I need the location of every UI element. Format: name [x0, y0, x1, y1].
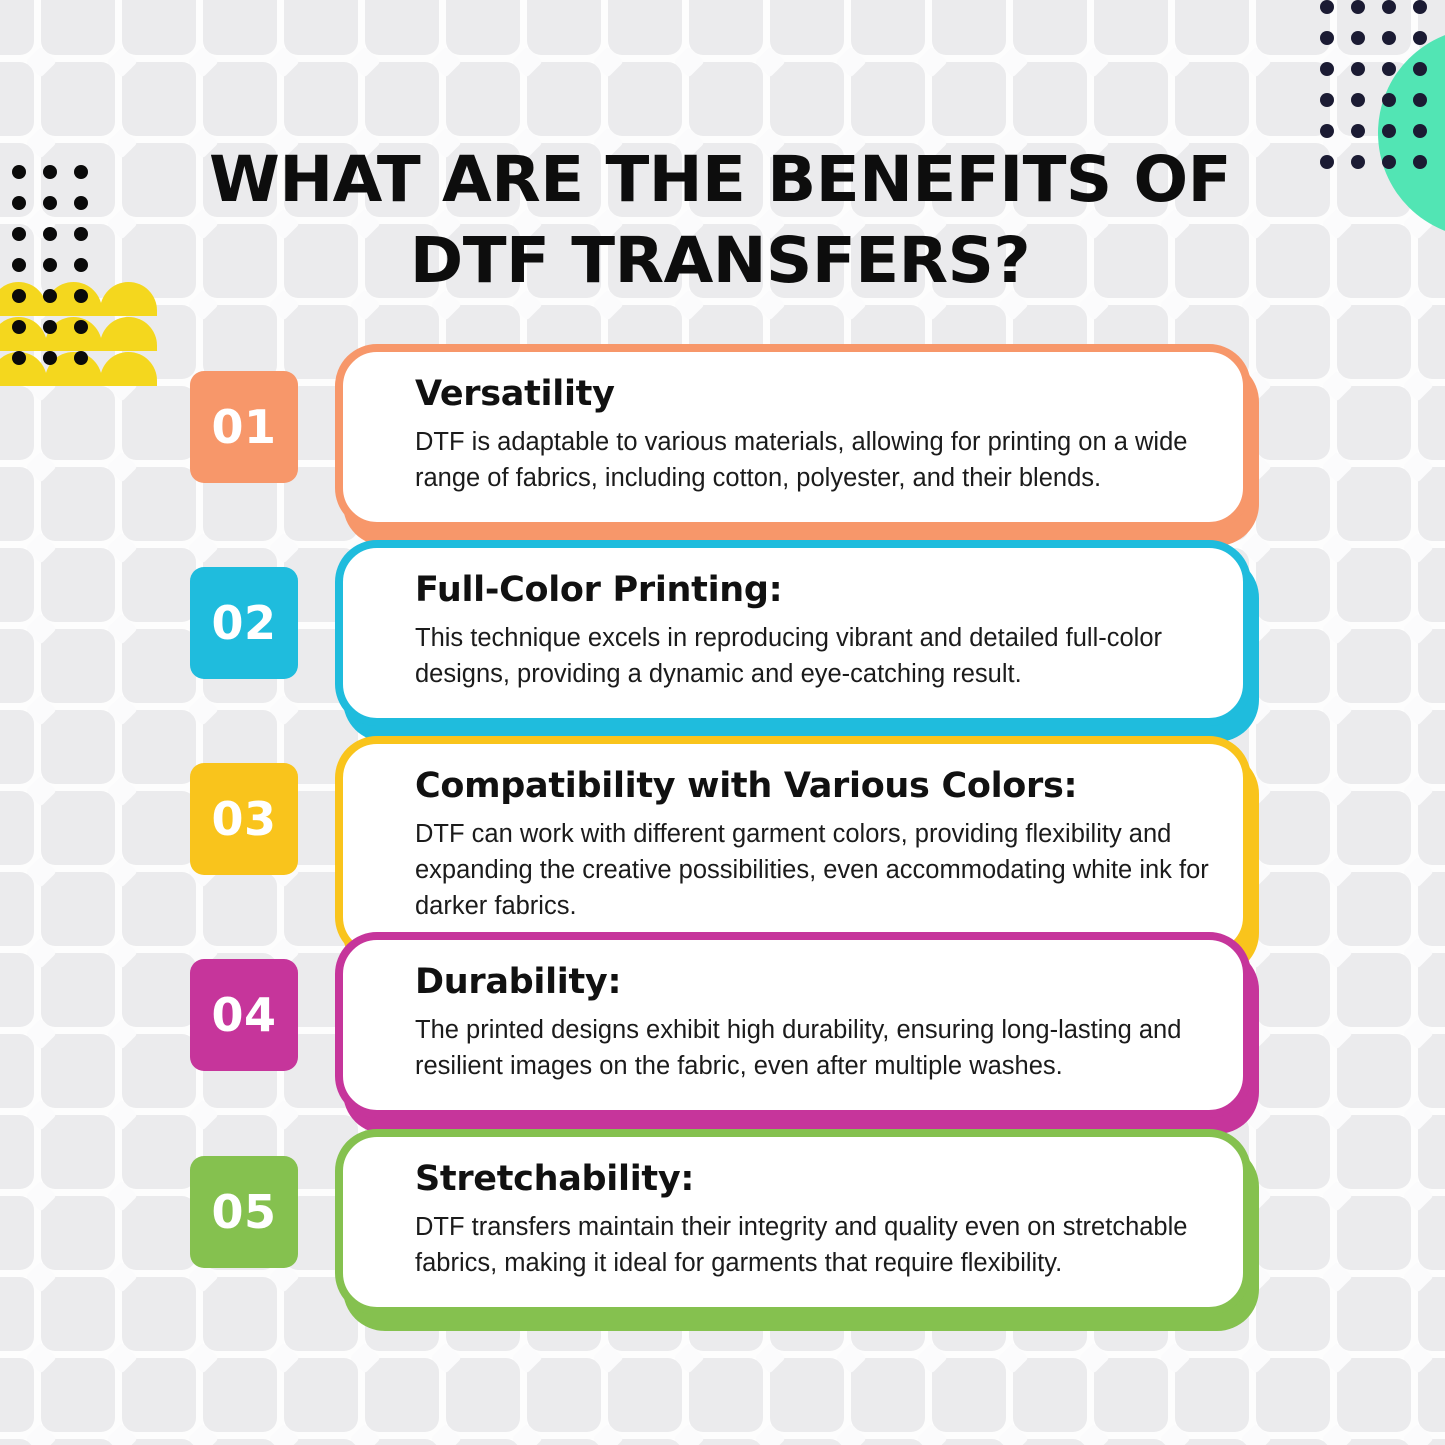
- benefit-body: This technique excels in reproducing vib…: [415, 620, 1209, 692]
- benefit-heading: Durability:: [415, 962, 1209, 1002]
- benefit-number-badge-01: 01: [190, 371, 298, 483]
- benefit-number-badge-04: 04: [190, 959, 298, 1071]
- benefit-card-wrapper-compatibility-with-various-colors: Compatibility with Various Colors:DTF ca…: [335, 736, 1251, 959]
- benefit-number-badge-02: 02: [190, 567, 298, 679]
- benefit-card-wrapper-full-color-printing: Full-Color Printing:This technique excel…: [335, 540, 1251, 726]
- benefit-heading: Full-Color Printing:: [415, 570, 1209, 610]
- benefit-card-full-color-printing: Full-Color Printing:This technique excel…: [335, 540, 1251, 726]
- benefit-card-versatility: VersatilityDTF is adaptable to various m…: [335, 344, 1251, 530]
- benefit-card-wrapper-versatility: VersatilityDTF is adaptable to various m…: [335, 344, 1251, 530]
- benefit-card-wrapper-durability: Durability:The printed designs exhibit h…: [335, 932, 1251, 1118]
- benefit-number-badge-03: 03: [190, 763, 298, 875]
- infographic-poster: WHAT ARE THE BENEFITS OF DTF TRANSFERS? …: [0, 0, 1445, 1445]
- benefit-card-stretchability: Stretchability:DTF transfers maintain th…: [335, 1129, 1251, 1315]
- benefit-heading: Compatibility with Various Colors:: [415, 766, 1209, 806]
- benefit-heading: Stretchability:: [415, 1159, 1209, 1199]
- benefit-number-badge-05: 05: [190, 1156, 298, 1268]
- top-right-dot-grid-icon: [1320, 0, 1445, 175]
- benefit-body: DTF is adaptable to various materials, a…: [415, 424, 1209, 496]
- page-title: WHAT ARE THE BENEFITS OF DTF TRANSFERS?: [149, 140, 1291, 301]
- left-dot-grid-icon: [12, 165, 92, 365]
- benefit-heading: Versatility: [415, 374, 1209, 414]
- benefit-card-wrapper-stretchability: Stretchability:DTF transfers maintain th…: [335, 1129, 1251, 1315]
- benefit-body: The printed designs exhibit high durabil…: [415, 1012, 1209, 1084]
- benefit-body: DTF can work with different garment colo…: [415, 816, 1209, 925]
- benefit-card-compatibility-with-various-colors: Compatibility with Various Colors:DTF ca…: [335, 736, 1251, 959]
- benefit-card-durability: Durability:The printed designs exhibit h…: [335, 932, 1251, 1118]
- benefit-body: DTF transfers maintain their integrity a…: [415, 1209, 1209, 1281]
